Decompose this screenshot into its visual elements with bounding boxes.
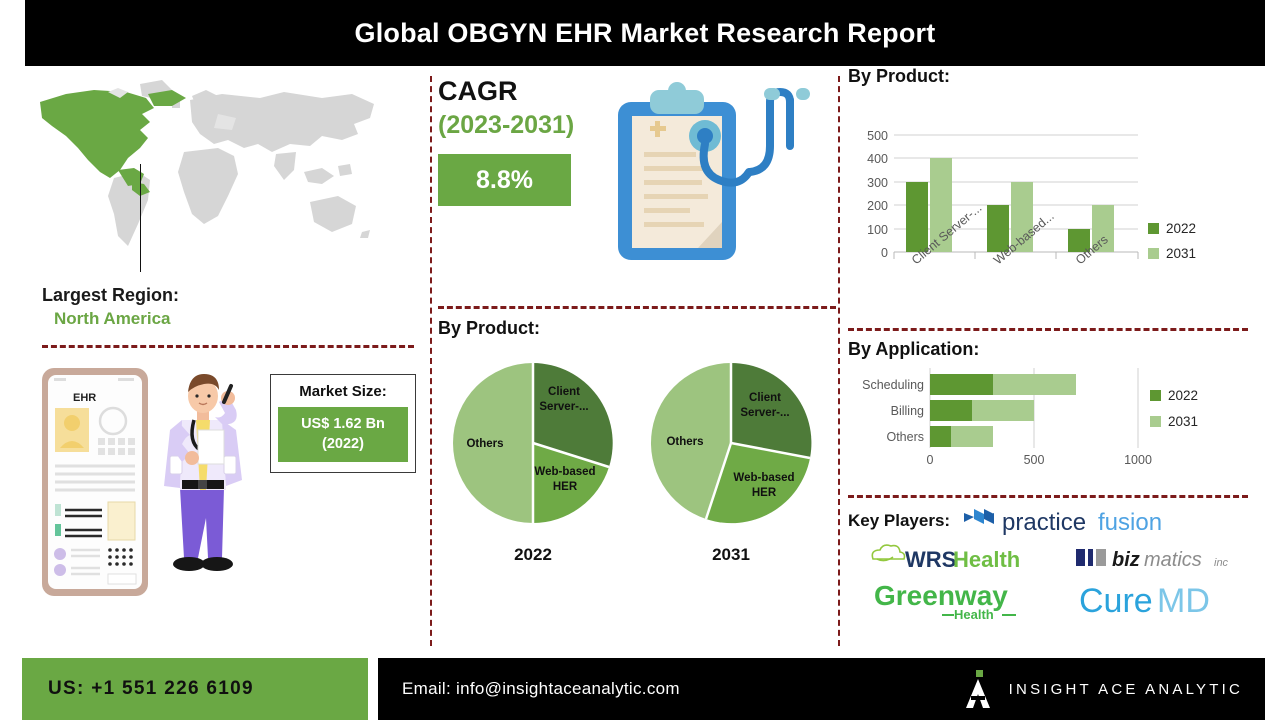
svg-text:inc: inc [1214, 557, 1229, 569]
svg-text:Health: Health [953, 547, 1020, 572]
svg-text:fusion: fusion [1098, 509, 1162, 536]
svg-text:WRS: WRS [905, 547, 956, 572]
by-application-section: By Application: Schedul [848, 339, 1260, 495]
pie-2022-label-client-2: Server-... [539, 401, 588, 413]
svg-text:matics: matics [1144, 549, 1202, 571]
clipboard-stethoscope-icon [614, 74, 824, 274]
xtick-0: 0 [927, 453, 934, 467]
xtick-500: 500 [1024, 453, 1045, 467]
bizmatics-logo: biz matics inc [1074, 541, 1242, 575]
ycat-scheduling: Scheduling [862, 378, 924, 392]
ycat-others: Others [886, 430, 924, 444]
right-horizontal-divider-1 [848, 328, 1248, 331]
greenway-health-logo: Greenway Health [866, 577, 1038, 623]
ehr-screen-label: EHR [73, 392, 96, 404]
vertical-divider-left [430, 76, 432, 646]
right-column: By Product: 500 400 300 200 100 0 [848, 66, 1260, 654]
pie-2031-label-web-1: Web-based [733, 472, 794, 484]
legend-swatch-2022 [1148, 223, 1159, 234]
hbar-others-2022 [930, 426, 951, 447]
doctor-illustration [152, 368, 254, 590]
pie-2022-svg: Others Client Server-... Web-based HER [439, 349, 627, 537]
curemd-logo: Cure MD [1073, 577, 1243, 623]
page-title: Global OBGYN EHR Market Research Report [355, 18, 936, 49]
hbar-others-2031 [951, 426, 993, 447]
middle-by-product-title: By Product: [438, 318, 836, 339]
ytick-400: 400 [867, 152, 888, 166]
by-product-bar-chart: 500 400 300 200 100 0 Client Serve [848, 93, 1248, 323]
vertical-divider-right [838, 76, 840, 646]
footer-phone-text: US: +1 551 226 6109 [48, 678, 254, 700]
hbar-billing-2022 [930, 400, 972, 421]
pie-2022-caption: 2022 [438, 545, 628, 565]
pie-2031-label-web-2: HER [752, 487, 777, 499]
pie-chart-2031: Others Client Server-... Web-based HER 2… [636, 349, 826, 565]
pie-2022-label-web-2: HER [553, 481, 578, 493]
app-legend-label-2031: 2031 [1168, 414, 1198, 429]
largest-region-block: Largest Region: North America [22, 285, 430, 329]
ytick-200: 200 [867, 199, 888, 213]
bar-client-server-2022 [906, 182, 928, 252]
pie-2022-label-client-1: Client [548, 386, 580, 398]
market-size-value: US$ 1.62 Bn (2022) [278, 407, 408, 462]
ytick-0: 0 [881, 246, 888, 260]
legend-swatch-2031 [1148, 248, 1159, 259]
footer-email-text: Email: info@insightaceanalytic.com [378, 679, 680, 699]
pie-2031-caption: 2031 [636, 545, 826, 565]
footer-brand: INSIGHT ACE ANALYTIC [963, 668, 1243, 710]
svg-text:Health: Health [954, 607, 994, 622]
svg-text:biz: biz [1112, 549, 1140, 571]
ytick-500: 500 [867, 129, 888, 143]
left-horizontal-divider [42, 345, 414, 348]
practice-fusion-logo: practice fusion [960, 505, 1182, 537]
hbar-billing-2031 [972, 400, 1034, 421]
pie-2031-label-client-1: Client [749, 392, 781, 404]
app-legend-swatch-2022 [1150, 390, 1161, 401]
pie-2031-label-others: Others [666, 436, 703, 448]
market-size-label: Market Size: [278, 383, 408, 400]
page-header: Global OBGYN EHR Market Research Report [25, 0, 1265, 66]
middle-horizontal-divider [438, 306, 836, 309]
ycat-billing: Billing [891, 404, 924, 418]
market-size-amount: US$ 1.62 Bn [282, 415, 404, 435]
footer-black-block: Email: info@insightaceanalytic.com INSIG… [378, 658, 1265, 720]
xtick-1000: 1000 [1124, 453, 1152, 467]
by-application-bar-chart: Scheduling Billing Others 0 500 1000 202… [848, 360, 1248, 490]
insight-ace-a-logo [963, 668, 993, 710]
key-players-logo-row-2: Greenway Health Cure MD [848, 577, 1260, 623]
footer-brand-name: INSIGHT ACE ANALYTIC [1009, 681, 1243, 698]
legend-label-2022: 2022 [1166, 221, 1196, 236]
ytick-300: 300 [867, 176, 888, 190]
pie-2031-svg: Others Client Server-... Web-based HER [637, 349, 825, 537]
key-players-logo-grid: WRS Health biz matics inc Greenway Heal [848, 541, 1260, 623]
infographic-body: Largest Region: North America EHR [0, 66, 1280, 654]
pie-2022-label-web-1: Web-based [534, 466, 595, 478]
world-map-icon [22, 74, 412, 279]
right-horizontal-divider-2 [848, 495, 1248, 498]
map-pointer-line [140, 164, 141, 272]
app-legend-label-2022: 2022 [1168, 388, 1198, 403]
market-size-year: (2022) [282, 435, 404, 455]
cagr-block: CAGR (2023-2031) 8.8% [438, 66, 836, 306]
footer-phone-block: US: +1 551 226 6109 [22, 658, 368, 720]
market-size-block: EHR [22, 362, 430, 632]
cagr-value: 8.8% [438, 154, 571, 206]
market-size-box: Market Size: US$ 1.62 Bn (2022) [270, 374, 416, 473]
svg-text:practice: practice [1002, 509, 1086, 536]
left-column: Largest Region: North America EHR [22, 66, 430, 654]
page-footer: US: +1 551 226 6109 Email: info@insighta… [0, 658, 1280, 720]
key-players-row: Key Players: practice fusion [848, 505, 1260, 537]
world-map [22, 74, 412, 279]
middle-column: CAGR (2023-2031) 8.8% [438, 66, 836, 654]
key-players-label: Key Players: [848, 511, 950, 531]
hbar-scheduling-2031 [993, 374, 1076, 395]
right-by-application-title: By Application: [848, 339, 1260, 360]
ehr-phone-illustration: EHR [40, 366, 150, 598]
key-players-logo-row-1: WRS Health biz matics inc [848, 541, 1260, 575]
pie-chart-group: Others Client Server-... Web-based HER 2… [438, 349, 836, 589]
ytick-100: 100 [867, 223, 888, 237]
largest-region-label: Largest Region: [42, 285, 430, 306]
hbar-scheduling-2022 [930, 374, 993, 395]
right-by-product-title: By Product: [848, 66, 1260, 87]
svg-text:Cure: Cure [1079, 582, 1153, 620]
pie-2031-label-client-2: Server-... [740, 407, 789, 419]
wrshealth-logo: WRS Health [867, 541, 1037, 575]
pie-chart-2022: Others Client Server-... Web-based HER 2… [438, 349, 628, 565]
app-legend-swatch-2031 [1150, 416, 1161, 427]
pie-2022-label-others: Others [466, 438, 503, 450]
legend-label-2031: 2031 [1166, 246, 1196, 261]
svg-text:MD: MD [1157, 582, 1210, 620]
largest-region-value: North America [42, 309, 430, 329]
